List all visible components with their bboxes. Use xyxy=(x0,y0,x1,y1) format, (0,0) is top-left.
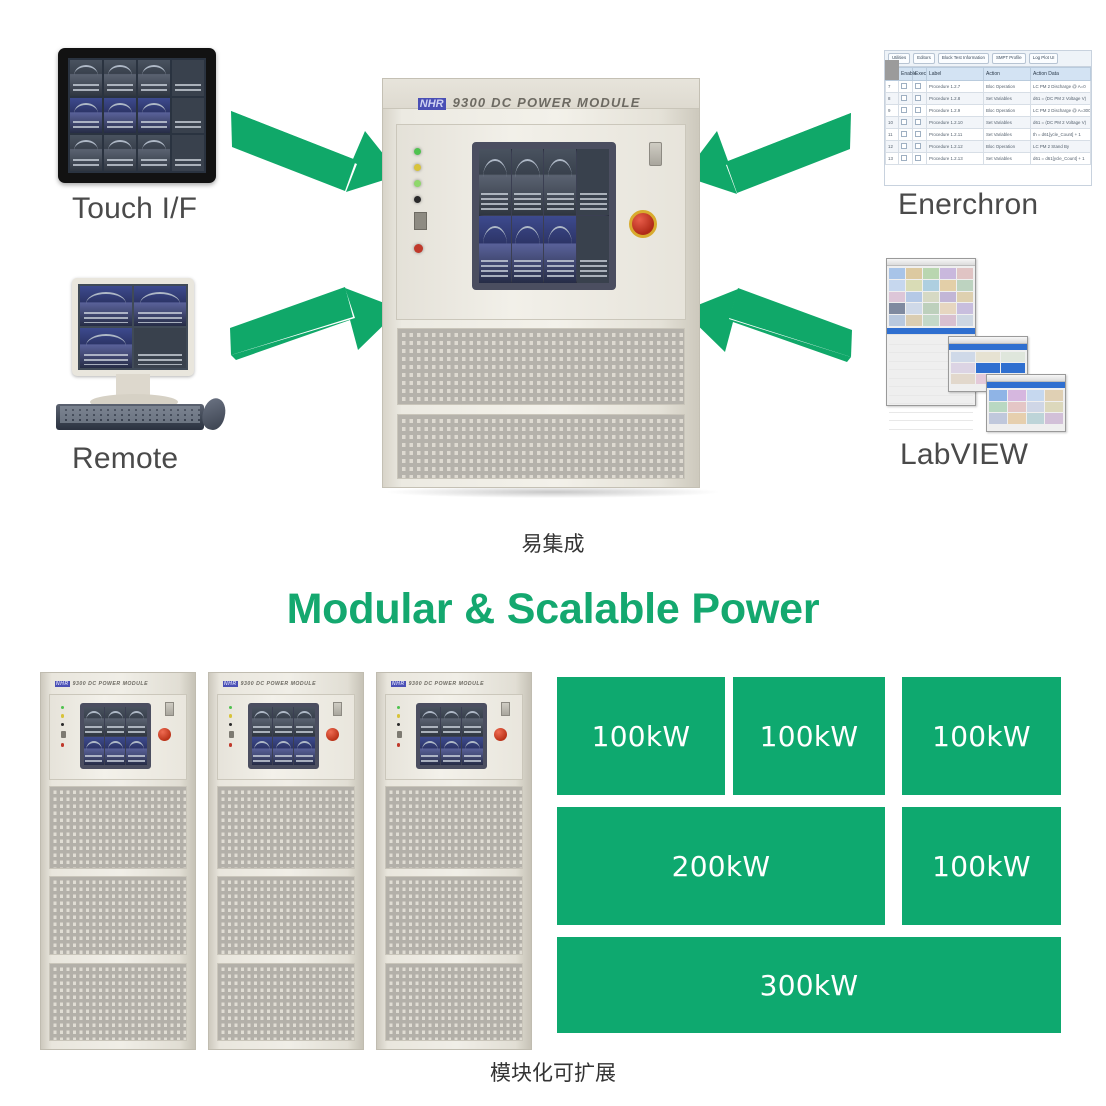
nhr-logo: NHR xyxy=(418,98,446,110)
nhr-logo: NHR xyxy=(391,681,406,687)
arrow-enerchron-to-cabinet xyxy=(683,113,851,194)
power-block-grid: 100kW 100kW 100kW 200kW 100kW 300kW xyxy=(557,677,1061,1033)
cabinet-touchscreen[interactable] xyxy=(472,142,616,289)
power-block[interactable]: 100kW xyxy=(557,677,725,795)
rack-touchscreen[interactable] xyxy=(416,703,487,769)
arrow-labview-to-cabinet xyxy=(683,288,852,362)
rack-cabinet: NHR9300 DC POWER MODULE xyxy=(208,672,364,1050)
modular-caption: 模块化可扩展 xyxy=(0,1057,1106,1087)
led-off xyxy=(414,196,421,203)
cabinet-front-panel xyxy=(396,124,687,320)
rack-led-column xyxy=(397,706,402,752)
led-red xyxy=(414,244,423,253)
rack-emergency-stop[interactable] xyxy=(494,728,507,741)
connector-port xyxy=(414,212,427,230)
led-green xyxy=(414,148,421,155)
rack-power-switch[interactable] xyxy=(333,702,342,716)
emergency-stop-button[interactable] xyxy=(629,210,657,238)
status-led-column xyxy=(414,148,454,288)
led-yellow xyxy=(414,164,421,171)
arrow-touch-to-cabinet xyxy=(231,111,400,192)
rack-touchscreen[interactable] xyxy=(248,703,319,769)
cabinet-brand-text: NHR9300 DC POWER MODULE xyxy=(418,95,641,110)
led-green-2 xyxy=(414,180,421,187)
rack-model-text: 9300 DC POWER MODULE xyxy=(409,681,484,687)
rack-cabinet: NHR9300 DC POWER MODULE xyxy=(376,672,532,1050)
rack-row: NHR9300 DC POWER MODULE NHR9300 DC PO xyxy=(40,672,540,1050)
rack-led-column xyxy=(61,706,66,752)
integration-caption: 易集成 xyxy=(0,528,1106,558)
rack-led-column xyxy=(229,706,234,752)
integration-diagram: Touch I/F Remote Utilities Editors Block… xyxy=(0,0,1106,560)
page-title: Modular & Scalable Power xyxy=(0,585,1106,634)
rack-touchscreen[interactable] xyxy=(80,703,151,769)
arrow-remote-to-cabinet xyxy=(230,287,400,360)
nhr-logo: NHR xyxy=(223,681,238,687)
power-switch[interactable] xyxy=(649,142,662,166)
cabinet-model-text: 9300 DC POWER MODULE xyxy=(453,95,641,110)
vent-panel-lower xyxy=(397,414,685,479)
power-block[interactable]: 100kW xyxy=(733,677,885,795)
rack-emergency-stop[interactable] xyxy=(326,728,339,741)
rack-cabinet: NHR9300 DC POWER MODULE xyxy=(40,672,196,1050)
rack-power-switch[interactable] xyxy=(501,702,510,716)
rack-emergency-stop[interactable] xyxy=(158,728,171,741)
power-block[interactable]: 200kW xyxy=(557,807,885,925)
power-block[interactable]: 100kW xyxy=(902,677,1061,795)
rack-model-text: 9300 DC POWER MODULE xyxy=(241,681,316,687)
power-block[interactable]: 300kW xyxy=(557,937,1061,1033)
nhr-logo: NHR xyxy=(55,681,70,687)
rack-model-text: 9300 DC POWER MODULE xyxy=(73,681,148,687)
power-module-cabinet: NHR9300 DC POWER MODULE xyxy=(382,78,700,488)
rack-power-switch[interactable] xyxy=(165,702,174,716)
vent-panel-upper xyxy=(397,328,685,406)
power-block[interactable]: 100kW xyxy=(902,807,1061,925)
